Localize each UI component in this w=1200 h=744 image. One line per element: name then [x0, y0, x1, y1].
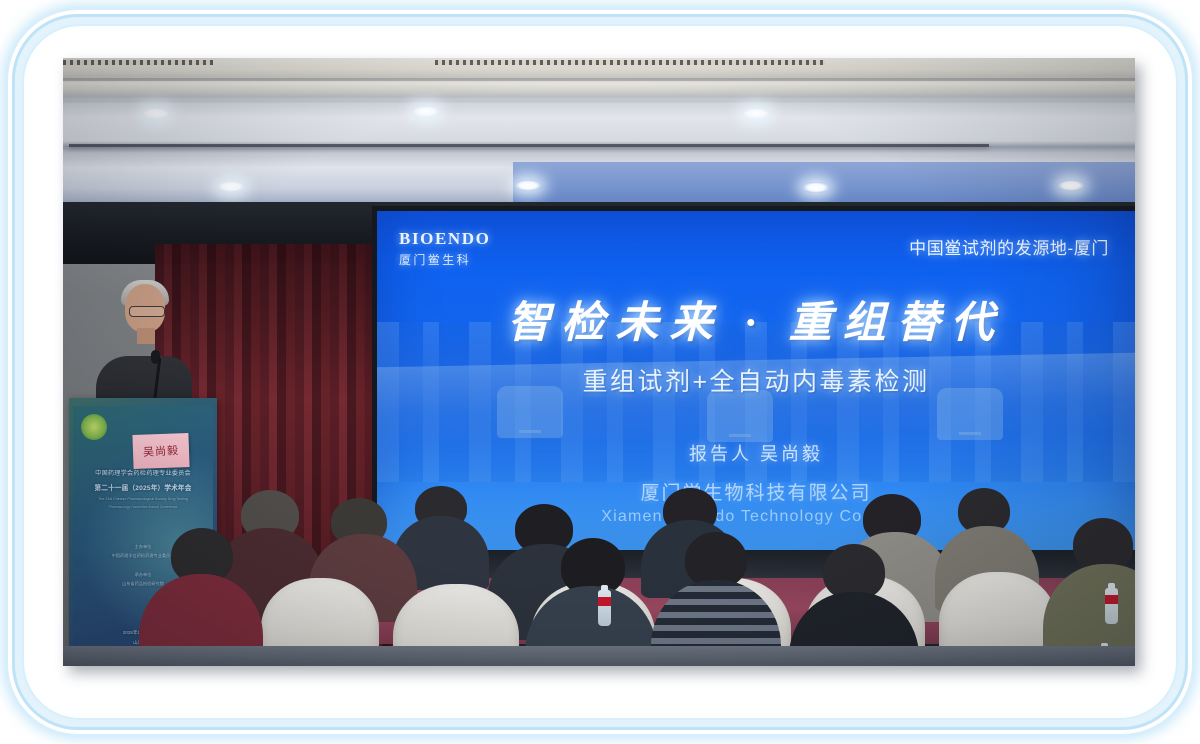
presenter-name-text: 吴尚毅 — [143, 442, 180, 460]
conference-photo: BIOENDO 厦门鲎生科 中国鲎试剂的发源地-厦门 智检未来 · 重组替代 重… — [63, 58, 1135, 666]
poster-line-2: 第二十一届（2025年）学术年会 — [73, 482, 213, 492]
ceiling-vent-left — [63, 60, 213, 65]
poster-line-1: 中国药理学会药检药理专业委员会 — [73, 468, 213, 477]
poster-line-4: Pharmacology Committee Annual Conference — [73, 505, 213, 509]
ceiling-light-3 — [743, 108, 769, 119]
ceiling-beam-2 — [63, 100, 1135, 103]
ceiling — [63, 58, 1135, 206]
brand-name-text: BIOENDO — [399, 230, 491, 247]
ceiling-rail — [69, 144, 989, 147]
ceiling-light-4 — [218, 181, 244, 192]
presenter-neck — [137, 328, 155, 344]
screenshot-root: BIOENDO 厦门鲎生科 中国鲎试剂的发源地-厦门 智检未来 · 重组替代 重… — [0, 0, 1200, 744]
ceiling-beam-1 — [63, 78, 1135, 81]
water-bottle-5 — [598, 590, 611, 626]
ceiling-light-2 — [413, 106, 439, 117]
ceiling-light-6 — [803, 182, 829, 193]
ceiling-light-5 — [515, 180, 541, 191]
ceiling-light-1 — [143, 108, 169, 119]
brand-name-chinese: 厦门鲎生科 — [399, 251, 491, 268]
presentation-screen: BIOENDO 厦门鲎生科 中国鲎试剂的发源地-厦门 智检未来 · 重组替代 重… — [377, 210, 1135, 550]
bioendo-logo: BIOENDO 厦门鲎生科 — [399, 230, 491, 268]
presenter-name-card: 吴尚毅 — [132, 433, 189, 469]
ceiling-light-7 — [1058, 180, 1084, 191]
slide-title: 智检未来 · 重组替代 — [377, 288, 1135, 350]
presenter-glasses-icon — [129, 306, 165, 317]
water-bottle-4 — [1105, 588, 1118, 624]
poster-line-3: The 21st Chinese Pharmacological Society… — [73, 497, 213, 501]
slide-subtitle: 重组试剂+全自动内毒素检测 — [377, 362, 1135, 398]
society-seal-icon — [81, 414, 107, 440]
floor — [63, 646, 1135, 666]
slide-tagline: 中国鲎试剂的发源地-厦门 — [909, 234, 1109, 259]
slide-speaker-line: 报告人 吴尚毅 — [377, 440, 1135, 466]
ceiling-vent-center — [435, 60, 825, 65]
